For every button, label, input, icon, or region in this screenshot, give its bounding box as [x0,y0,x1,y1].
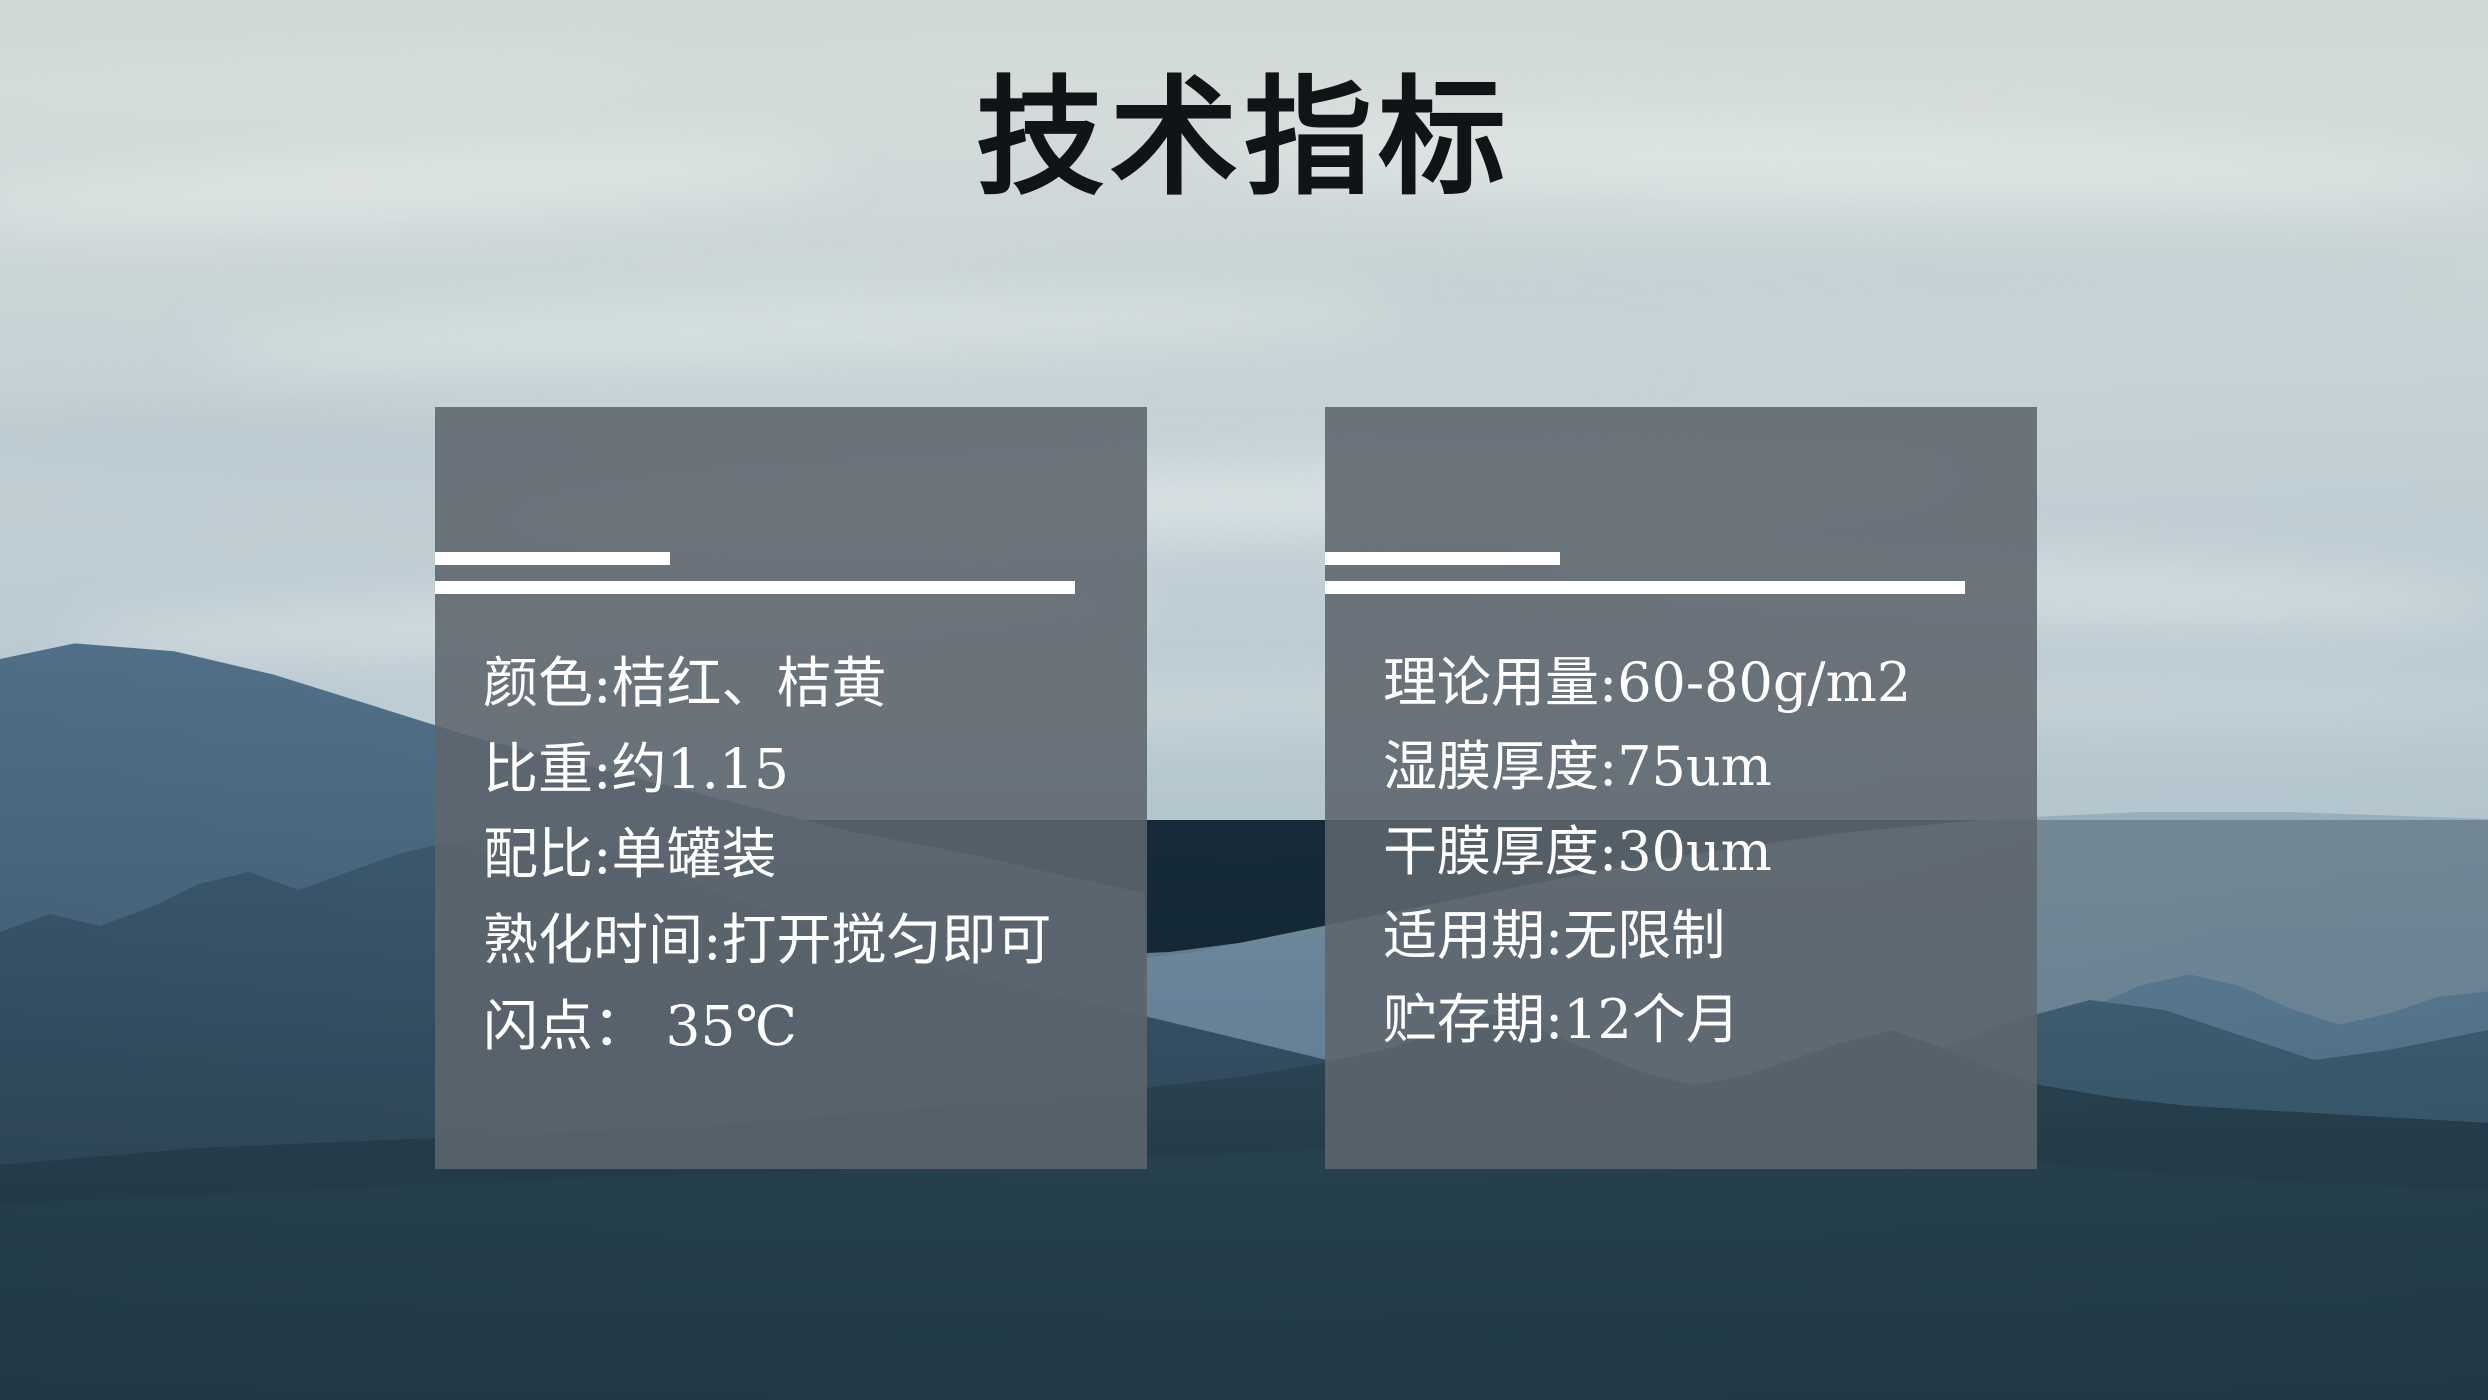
spec-line: 干膜厚度:30um [1383,816,2021,888]
slide-canvas: 技术指标 颜色:桔红、桔黄 比重:约1.15 配比:单罐装 熟化时间:打开搅匀即… [0,0,2488,1400]
spec-line: 颜色:桔红、桔黄 [483,647,1131,721]
spec-line: 贮存期:12个月 [1383,984,2021,1056]
spec-list-right: 理论用量:60-80g/m2 湿膜厚度:75um 干膜厚度:30um 适用期:无… [1325,647,2037,1069]
card-rule-group [435,552,1147,594]
decorative-rule-short [435,552,670,565]
spec-line: 理论用量:60-80g/m2 [1383,647,2021,719]
spec-line: 闪点： 35℃ [483,990,1131,1064]
page-title: 技术指标 [0,68,2488,209]
spec-line: 适用期:无限制 [1383,900,2021,972]
rule-spacer [435,565,1147,581]
spec-list-left: 颜色:桔红、桔黄 比重:约1.15 配比:单罐装 熟化时间:打开搅匀即可 闪点：… [435,647,1147,1075]
decorative-rule-long [1325,581,1965,594]
spec-line: 比重:约1.15 [483,733,1131,807]
spec-card-left: 颜色:桔红、桔黄 比重:约1.15 配比:单罐装 熟化时间:打开搅匀即可 闪点：… [435,407,1147,1169]
decorative-rule-short [1325,552,1560,565]
decorative-rule-long [435,581,1075,594]
spec-line: 湿膜厚度:75um [1383,731,2021,803]
card-rule-group [1325,552,2037,594]
rule-spacer [1325,565,2037,581]
spec-line: 配比:单罐装 [483,818,1131,892]
spec-line: 熟化时间:打开搅匀即可 [483,904,1131,978]
spec-card-right: 理论用量:60-80g/m2 湿膜厚度:75um 干膜厚度:30um 适用期:无… [1325,407,2037,1169]
